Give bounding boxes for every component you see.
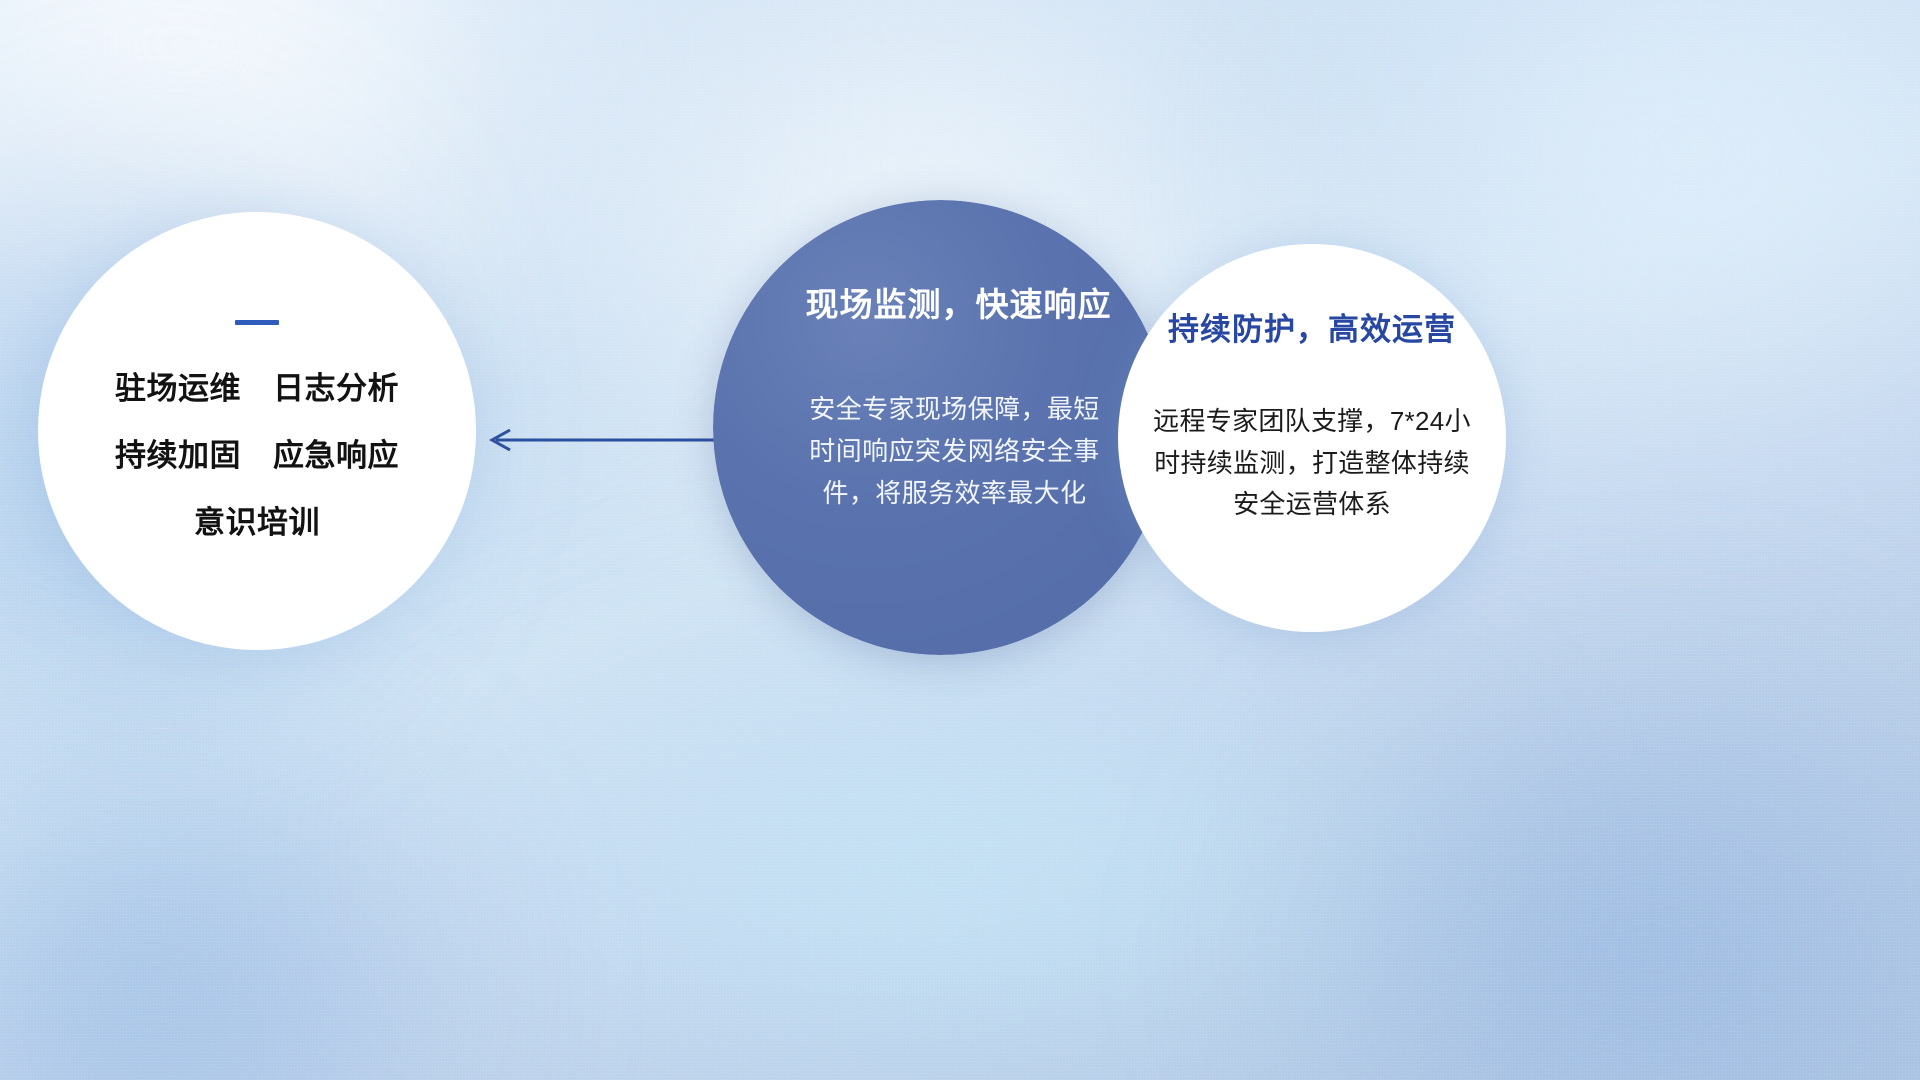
divider-dash-icon: [235, 320, 279, 325]
card-continuous-protection-body: 远程专家团队支撑，7*24小时持续监测，打造整体持续安全运营体系: [1142, 401, 1482, 526]
service-capability-row: 持续加固应急响应: [115, 430, 399, 475]
card-continuous-protection-title: 持续防护，高效运营: [1168, 304, 1456, 349]
service-capability-item: 日志分析: [273, 363, 399, 408]
card-onsite-monitoring-title: 现场监测，快速响应: [806, 278, 1112, 326]
card-onsite-monitoring-body: 安全专家现场保障，最短时间响应突发网络安全事件，将服务效率最大化: [805, 388, 1105, 514]
card-service-capabilities[interactable]: 驻场运维日志分析持续加固应急响应意识培训: [38, 212, 476, 650]
flow-arrow: [480, 418, 720, 462]
service-capability-list: 驻场运维日志分析持续加固应急响应意识培训: [115, 363, 399, 542]
service-capability-row: 驻场运维日志分析: [115, 363, 399, 408]
flow-arrow-icon: [480, 418, 720, 462]
card-continuous-protection[interactable]: 持续防护，高效运营 远程专家团队支撑，7*24小时持续监测，打造整体持续安全运营…: [1118, 244, 1506, 632]
service-capability-item: 持续加固: [115, 430, 241, 475]
card-service-capabilities-content: 驻场运维日志分析持续加固应急响应意识培训: [38, 212, 476, 650]
service-capability-item: 应急响应: [273, 430, 399, 475]
service-capability-row: 意识培训: [194, 497, 320, 542]
card-onsite-monitoring[interactable]: 现场监测，快速响应 安全专家现场保障，最短时间响应突发网络安全事件，将服务效率最…: [713, 200, 1168, 655]
card-onsite-monitoring-content: 现场监测，快速响应 安全专家现场保障，最短时间响应突发网络安全事件，将服务效率最…: [713, 200, 1168, 655]
service-capability-item: 驻场运维: [115, 363, 241, 408]
service-capability-item: 意识培训: [194, 497, 320, 542]
card-continuous-protection-content: 持续防护，高效运营 远程专家团队支撑，7*24小时持续监测，打造整体持续安全运营…: [1118, 244, 1506, 632]
